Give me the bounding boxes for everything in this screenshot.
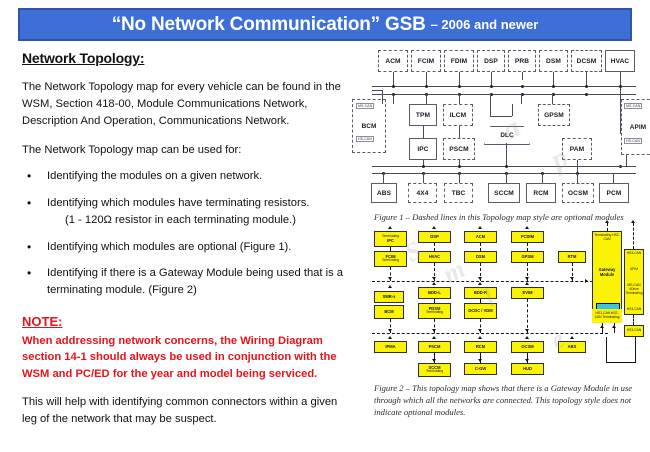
module-label: ABS: [568, 345, 577, 350]
module-abs: ABS: [371, 183, 397, 203]
module-label: ACM: [476, 235, 485, 240]
right-figures-column: ACM FCIM FDIM DSP PRB DSM DCSM HVAC: [366, 46, 644, 418]
module-dsp: DSP: [477, 50, 505, 72]
terminating-tag: Terminating: [426, 311, 443, 315]
module-ilcm: ILCM: [443, 104, 473, 126]
apim-mid-label: MS-CAN 4Drive Terminating: [625, 284, 642, 295]
module-hvac: HVAC: [605, 50, 635, 72]
fig2-module-rtm: RTM: [558, 251, 586, 263]
fig2-apim-module: HS4-CAN APIM MS-CAN 4Drive Terminating H…: [624, 249, 644, 315]
gateway-title: Gateway Module: [594, 268, 620, 277]
title-sub-text: – 2006 and newer: [431, 17, 539, 32]
fig2-module-ipma: IPMA: [374, 341, 407, 353]
module-pscm: PSCM: [443, 138, 475, 160]
module-label: DSM: [476, 255, 485, 260]
module-sccm: SCCM: [488, 183, 520, 203]
fig2-module-sccm: SCCM Terminating: [418, 363, 451, 377]
list-item: Identifying if there is a Gateway Module…: [22, 265, 352, 299]
module-label: SMR-x: [383, 295, 396, 300]
used-for-paragraph: The Network Topology map can be used for…: [22, 142, 352, 159]
apim-top-label: HS4-CAN: [627, 252, 641, 256]
figure-2-topology-map: Terminating IPC DSP ACM FCDIM FCIM Termi…: [366, 229, 644, 377]
terminating-tag: Terminating: [382, 259, 399, 263]
closing-paragraph: This will help with identifying common c…: [22, 394, 352, 429]
fig2-module-hvac: HVAC: [418, 251, 451, 263]
slide-title-banner: “No Network Communication” GSB – 2006 an…: [18, 8, 632, 41]
fig2-module-smr: SMR-x: [374, 291, 404, 303]
figure-1-topology-map: ACM FCIM FDIM DSP PRB DSM DCSM HVAC: [366, 46, 644, 206]
module-ipc: IPC: [409, 138, 437, 160]
list-item: Identifying the modules on a given netwo…: [22, 168, 352, 185]
slide-page: “No Network Communication” GSB – 2006 an…: [0, 0, 650, 452]
fig2-module-acm: ACM: [464, 231, 497, 243]
module-pam: PAM: [562, 138, 592, 160]
note-body-text: When addressing network concerns, the Wi…: [22, 333, 352, 382]
figure-1-caption: Figure 1 – Dashed lines in this Topology…: [374, 211, 636, 223]
fig2-side-module-hs3can: HS3-CAN: [624, 325, 644, 337]
module-fcim: FCIM: [411, 50, 441, 72]
intro-paragraph: The Network Topology map for every vehic…: [22, 79, 352, 131]
apim-title: APIM: [630, 268, 638, 272]
module-rcm: RCM: [526, 183, 556, 203]
connector-label: HS1-CAN HS2-CAN Terminating: [593, 312, 621, 320]
note-block: NOTE: When addressing network concerns, …: [22, 312, 352, 429]
module-pcm: PCM: [599, 183, 629, 203]
module-label: BDD-L: [428, 291, 441, 296]
fig2-module-cgw: C-GW: [464, 363, 497, 375]
bus-label-ms-can-left: MS-CAN: [356, 103, 374, 109]
bus-label-hs-can-right: HS-CAN: [624, 138, 642, 144]
module-acm: ACM: [378, 50, 408, 72]
module-ocsm: OCSM: [562, 183, 594, 203]
fig2-module-bdd-l: BDD-L: [418, 287, 451, 299]
module-label: RTM: [568, 255, 577, 260]
title-main-text: “No Network Communication” GSB: [112, 14, 426, 36]
module-prb: PRB: [508, 50, 536, 72]
module-label: GPSM: [521, 255, 533, 260]
fig2-module-rcm: RCM: [464, 341, 497, 353]
module-label: PSCM: [429, 345, 441, 350]
section-heading: Network Topology:: [22, 48, 352, 70]
fig2-module-hud: HUD: [511, 363, 544, 375]
fig2-module-bdd-r: BDD-R: [464, 287, 497, 299]
fig2-module-fcdim: FCDIM: [511, 231, 544, 243]
fig2-module-abs: ABS: [558, 341, 586, 353]
module-tpm: TPM: [409, 104, 437, 126]
module-gpsm: GPSM: [538, 104, 570, 126]
module-label: IPMA: [385, 345, 395, 350]
module-fdim: FDIM: [444, 50, 474, 72]
fig2-module-bcm: BCM: [374, 305, 404, 319]
module-label: HVAC: [429, 255, 440, 260]
module-label: EVIM: [522, 291, 532, 296]
left-content-column: Network Topology: The Network Topology m…: [22, 48, 352, 428]
fig2-module-dsp: DSP: [418, 231, 451, 243]
apim-bottom-label: HS3-CAN: [627, 308, 641, 312]
fig2-gateway-connector-label: HS1-CAN HS2-CAN Terminating: [592, 309, 622, 323]
module-label: C-GW: [475, 367, 486, 372]
module-tbc: TBC: [444, 183, 473, 203]
fig2-module-dcdc: DCDC / VDM: [464, 303, 497, 319]
list-item: Identifying which modules have terminati…: [22, 195, 352, 229]
gateway-top-label: Terminating HS2-CAN: [594, 234, 620, 242]
fig2-module-ocsm: OCSM: [511, 341, 544, 353]
fig2-module-ipc: Terminating IPC: [374, 231, 407, 247]
module-label: HS3-CAN: [627, 329, 641, 333]
fig2-module-pdsm: PDSM Terminating: [418, 303, 451, 319]
bullet-text: Identifying the modules on a given netwo…: [47, 170, 262, 182]
fig2-module-pscm: PSCM: [418, 341, 451, 353]
figure-2-caption: Figure 2 – This topology map shows that …: [374, 382, 636, 418]
fig2-module-fcim: FCIM Terminating: [374, 251, 407, 267]
bullet-subtext: (1 - 120Ω resistor in each terminating m…: [47, 212, 352, 229]
module-label: BCM: [384, 310, 393, 315]
fig2-module-evim: EVIM: [511, 287, 544, 299]
fig2-module-dsm: DSM: [464, 251, 497, 263]
module-label: DCDC / VDM: [468, 309, 492, 314]
module-4x4: 4X4: [408, 183, 437, 203]
bullet-text: Identifying which modules have terminati…: [47, 197, 309, 209]
bus-label-ms-can-right: MS-CAN: [624, 103, 642, 109]
module-label: RCM: [476, 345, 485, 350]
list-item: Identifying which modules are optional (…: [22, 239, 352, 256]
module-dsm: DSM: [539, 50, 568, 72]
module-label: FCDIM: [521, 235, 534, 240]
module-label: IPC: [387, 239, 394, 244]
module-label: BDD-R: [474, 291, 487, 296]
module-label: HUD: [523, 367, 532, 372]
terminating-tag: Terminating: [426, 370, 443, 374]
bullet-text: Identifying if there is a Gateway Module…: [47, 267, 343, 296]
bullet-text: Identifying which modules are optional (…: [47, 241, 291, 253]
module-label: DSP: [430, 235, 438, 240]
module-dcsm: DCSM: [571, 50, 602, 72]
note-title: NOTE:: [22, 312, 352, 332]
fig2-module-gpsm: GPSM: [511, 251, 544, 263]
usage-bullet-list: Identifying the modules on a given netwo…: [22, 168, 352, 299]
dlc-connector: DLC: [484, 126, 530, 145]
bus-label-hs-can-left: HS-CAN: [356, 136, 374, 142]
module-label: OCSM: [521, 345, 533, 350]
